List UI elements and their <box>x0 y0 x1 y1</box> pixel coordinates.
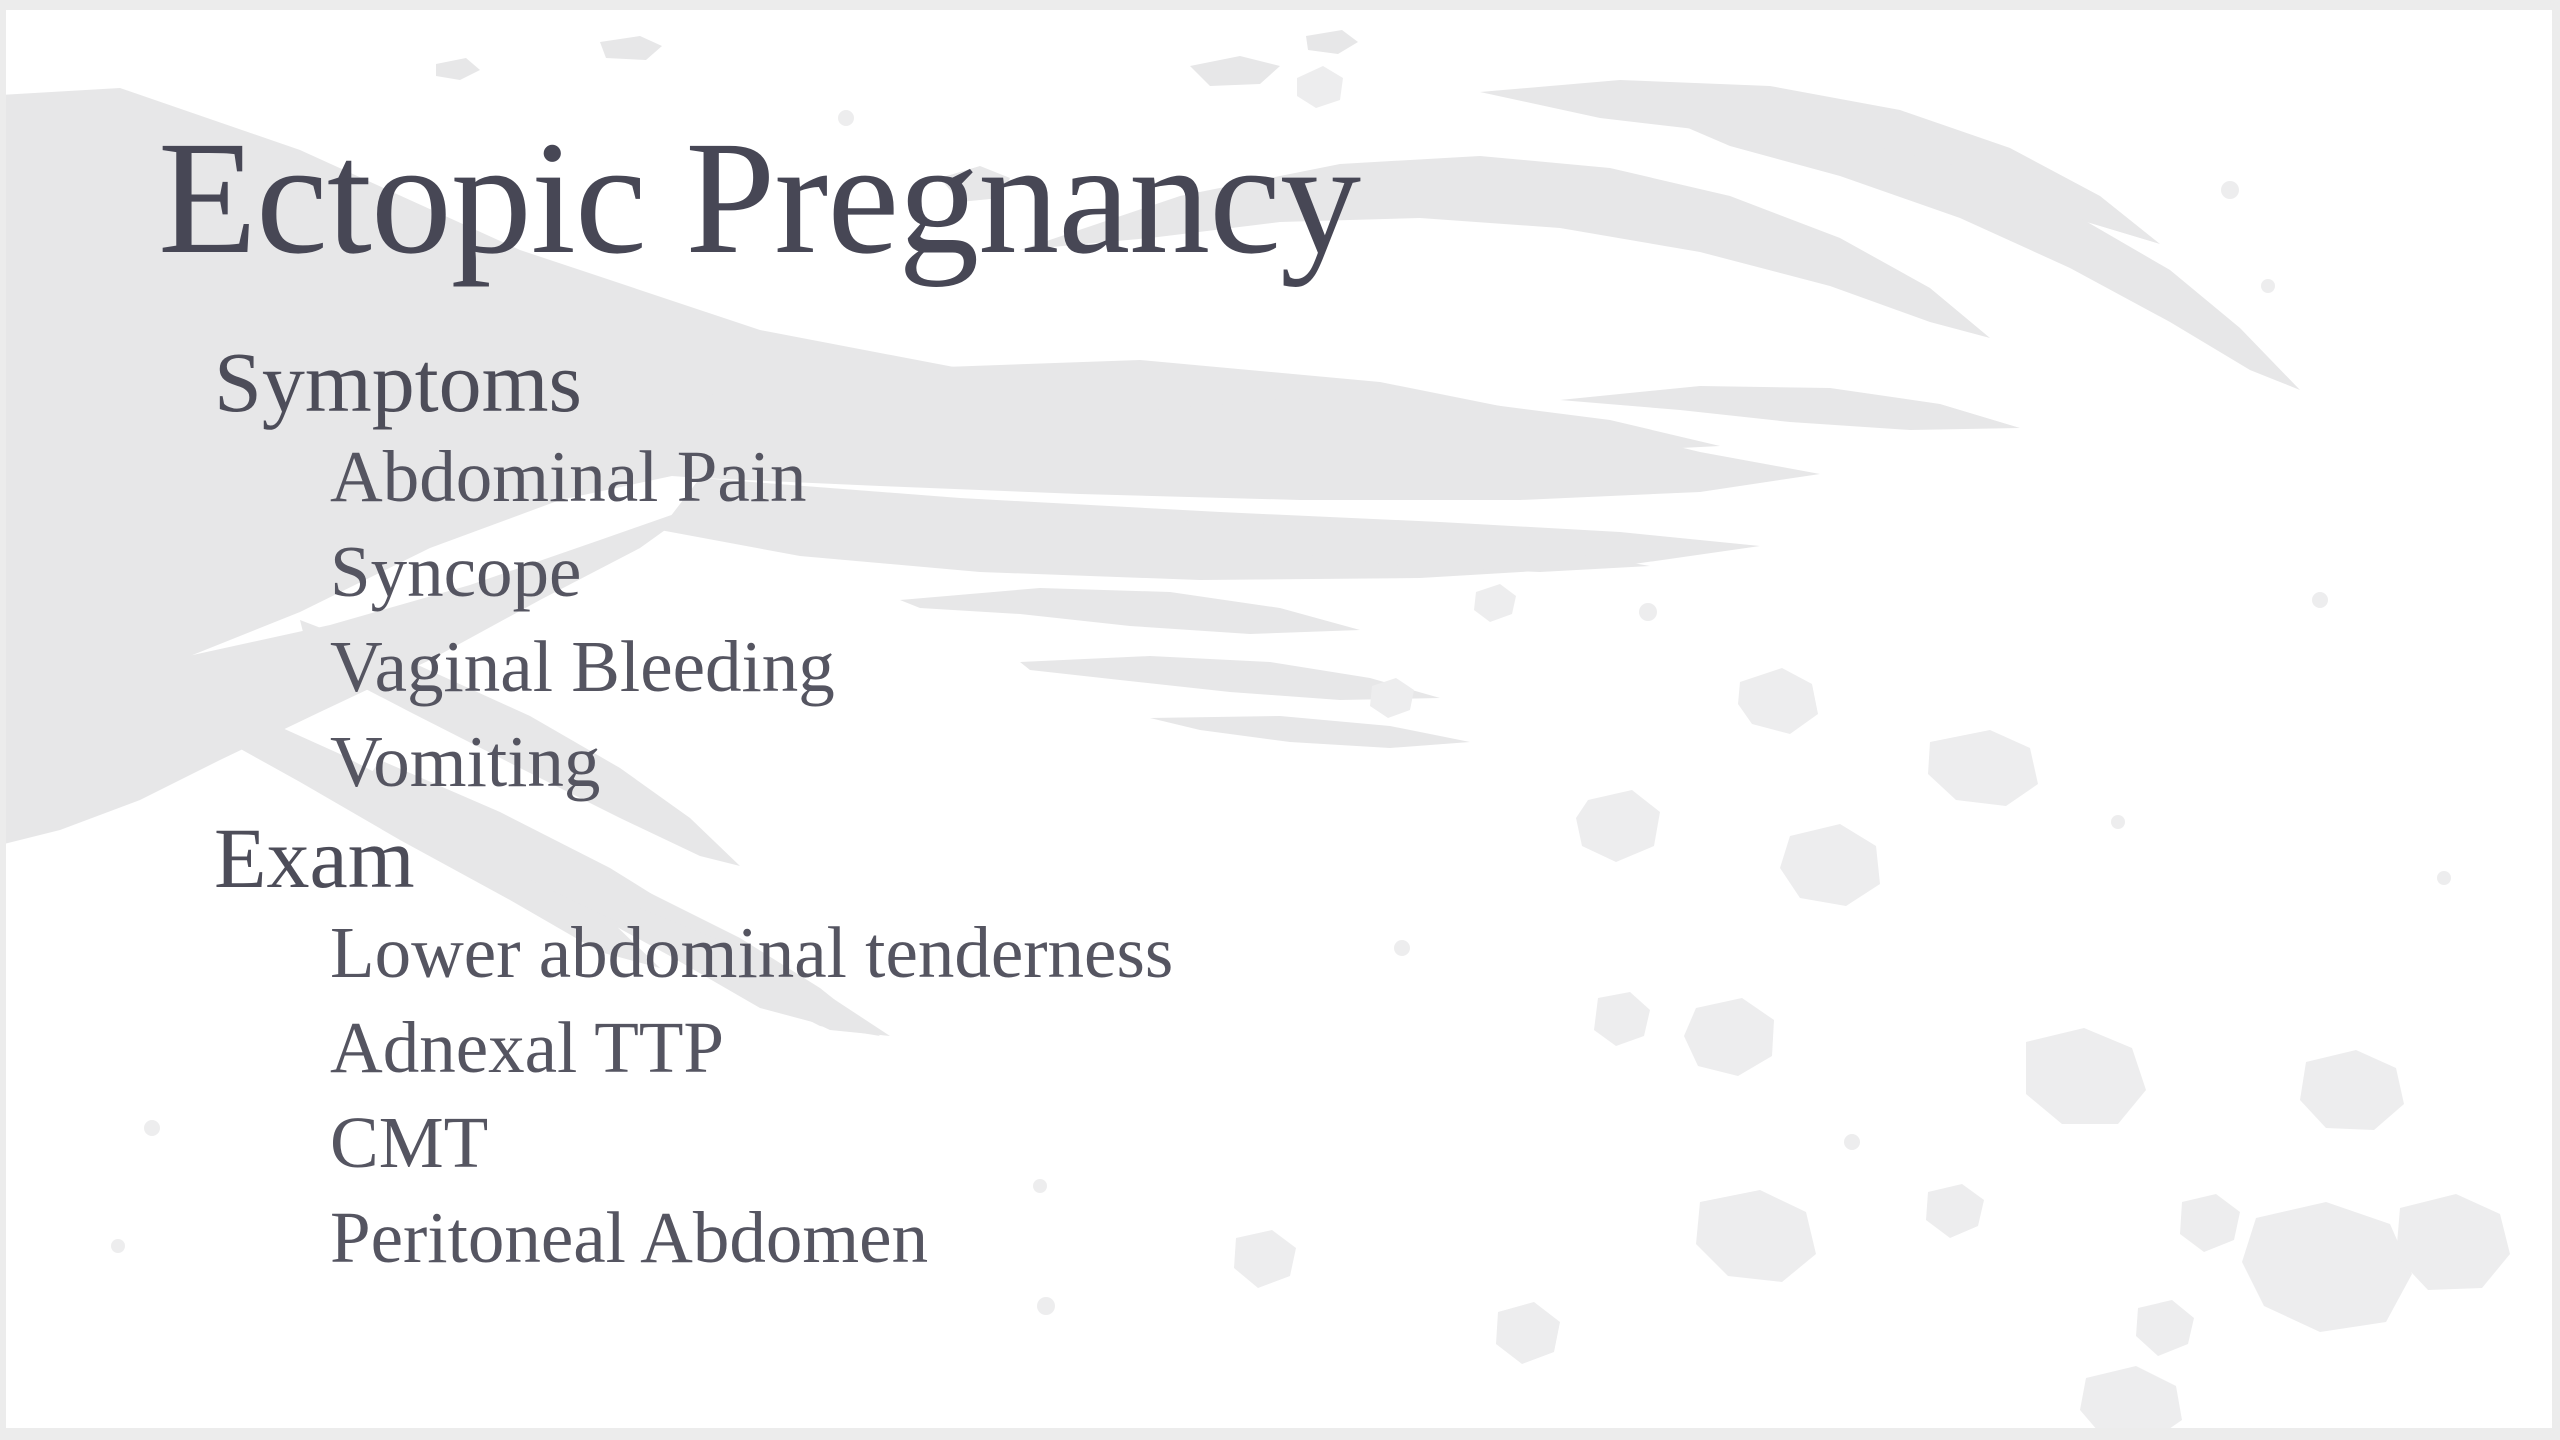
list-item: Vaginal Bleeding <box>0 620 2560 715</box>
list-item: Abdominal Pain <box>0 430 2560 525</box>
section-items-exam: Lower abdominal tenderness Adnexal TTP C… <box>0 906 2560 1286</box>
section-heading-exam: Exam <box>0 810 2560 906</box>
slide-content: Ectopic Pregnancy Symptoms Abdominal Pai… <box>0 0 2560 1440</box>
list-item: Peritoneal Abdomen <box>0 1191 2560 1286</box>
list-item: Lower abdominal tenderness <box>0 906 2560 1001</box>
list-item: CMT <box>0 1096 2560 1191</box>
section-symptoms: Symptoms Abdominal Pain Syncope Vaginal … <box>0 334 2560 810</box>
section-exam: Exam Lower abdominal tenderness Adnexal … <box>0 810 2560 1286</box>
slide-body: Symptoms Abdominal Pain Syncope Vaginal … <box>0 334 2560 1286</box>
list-item: Vomiting <box>0 715 2560 810</box>
section-items-symptoms: Abdominal Pain Syncope Vaginal Bleeding … <box>0 430 2560 810</box>
slide-title: Ectopic Pregnancy <box>158 118 1360 280</box>
presentation-slide: Ectopic Pregnancy Symptoms Abdominal Pai… <box>0 0 2560 1440</box>
section-heading-symptoms: Symptoms <box>0 334 2560 430</box>
list-item: Syncope <box>0 525 2560 620</box>
list-item: Adnexal TTP <box>0 1001 2560 1096</box>
